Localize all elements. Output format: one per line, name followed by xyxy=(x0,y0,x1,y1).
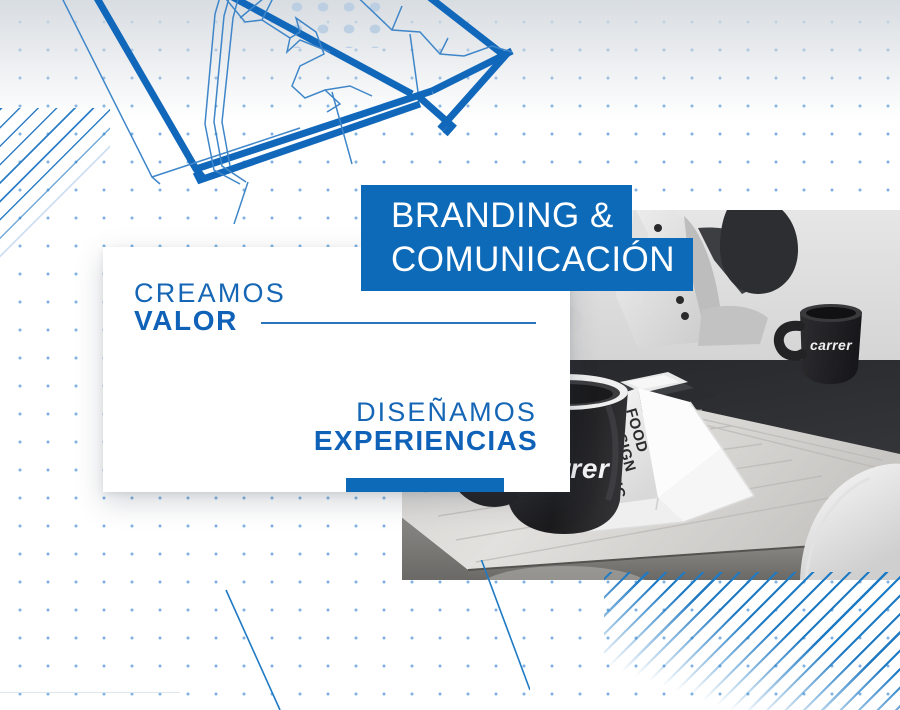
blue-accent-bar xyxy=(346,478,504,492)
title-banner: BRANDING & COMUNICACIÓN xyxy=(361,185,900,291)
svg-text:carrer: carrer xyxy=(810,337,853,353)
banner-line-1: BRANDING & xyxy=(361,185,632,239)
slide-canvas: FOOD DESIGN & PLASTIC MADRID 2018 carrer xyxy=(0,0,900,710)
banner-line-2: COMUNICACIÓN xyxy=(361,238,693,291)
divider-rule xyxy=(261,322,536,324)
thin-diagonal-lines xyxy=(130,560,530,710)
bottom-hairline xyxy=(0,692,180,693)
headline-valor: VALOR xyxy=(134,307,238,335)
headline-experiencias: EXPERIENCIAS xyxy=(314,427,538,455)
diagonal-hatch-bottom-right-icon xyxy=(604,572,900,710)
headline-disenamos: DISEÑAMOS xyxy=(356,399,537,426)
headline-creamos: CREAMOS xyxy=(134,280,286,307)
